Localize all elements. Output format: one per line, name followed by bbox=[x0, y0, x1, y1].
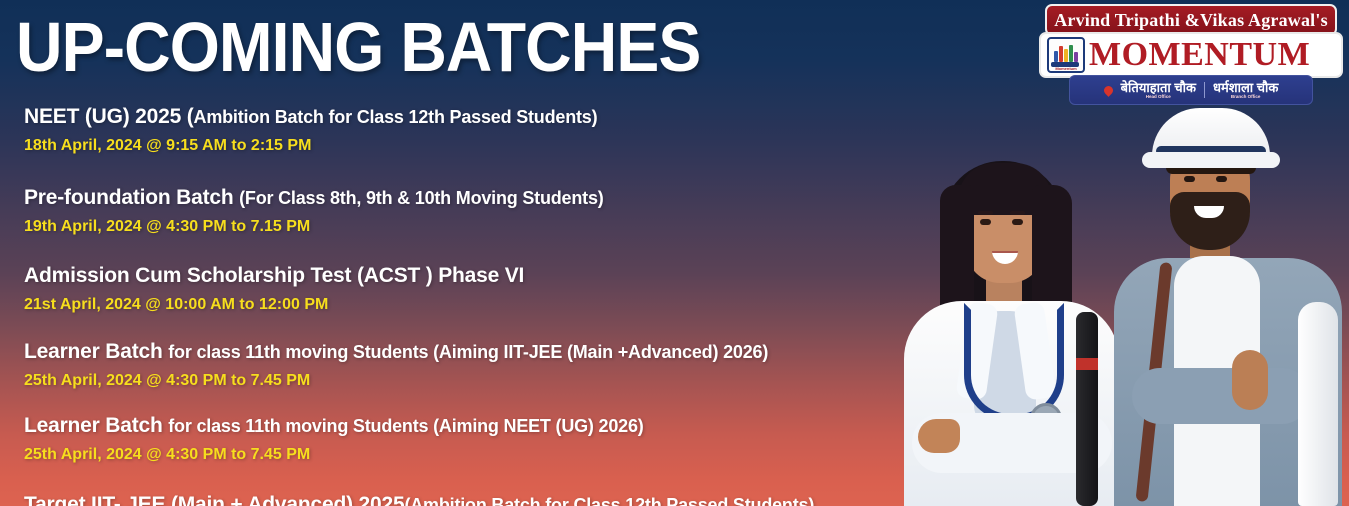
engineer-hand bbox=[1232, 350, 1268, 410]
hard-hat-brim bbox=[1142, 152, 1280, 168]
doctor-brow-left bbox=[978, 211, 993, 215]
bag-strap bbox=[1135, 262, 1172, 502]
office-english-label: Branch Office bbox=[1231, 95, 1261, 100]
doctor-brow-right bbox=[1010, 211, 1025, 215]
emblem-bar bbox=[1059, 46, 1063, 62]
female-doctor-figure bbox=[904, 151, 1119, 506]
logo-founders-text: Arvind Tripathi &Vikas Agrawal's bbox=[1054, 10, 1328, 31]
batch-title-main: Target IIT- JEE (Main + Advanced) 2025 bbox=[24, 493, 404, 506]
emblem-word: Momentum bbox=[1049, 66, 1083, 71]
engineer-hair bbox=[1166, 132, 1256, 174]
engineer-shirt bbox=[1174, 256, 1260, 506]
batch-title: Learner Batch for class 11th moving Stud… bbox=[24, 413, 924, 441]
office-hindi-name: धर्मशाला चौक bbox=[1213, 81, 1278, 94]
emblem-bar bbox=[1064, 49, 1068, 62]
doctor-hair-back bbox=[942, 161, 1064, 341]
doctor-lab-coat bbox=[904, 301, 1119, 506]
doctor-face bbox=[966, 179, 1044, 283]
batch-title-sub: (Ambition Batch for Class 12th Passed St… bbox=[404, 495, 814, 506]
batch-title-main: Learner Batch bbox=[24, 414, 168, 437]
batch-date: 25th April, 2024 @ 4:30 PM to 7.45 PM bbox=[24, 443, 924, 467]
batch-title-main: Pre-foundation Batch bbox=[24, 186, 239, 209]
logo-offices-bar: बेतियाहाता चौक Head Office धर्मशाला चौक … bbox=[1069, 75, 1313, 105]
batch-title-main: NEET (UG) 2025 ( bbox=[24, 105, 194, 128]
doctor-lapel-left bbox=[955, 301, 998, 400]
batch-title: Pre-foundation Batch (For Class 8th, 9th… bbox=[24, 185, 924, 213]
page-title: UP-COMING BATCHES bbox=[16, 4, 700, 90]
engineer-eye-right bbox=[1216, 176, 1227, 182]
batch-title-main: Admission Cum Scholarship Test (ACST ) P… bbox=[24, 264, 524, 287]
blueprint-roll bbox=[1298, 302, 1338, 506]
location-pin-icon bbox=[1102, 84, 1115, 97]
engineer-blazer bbox=[1114, 258, 1342, 506]
batch-item: Target IIT- JEE (Main + Advanced) 2025(A… bbox=[24, 492, 924, 506]
office-english-label: Head Office bbox=[1146, 95, 1171, 100]
batch-item: Pre-foundation Batch (For Class 8th, 9th… bbox=[24, 185, 924, 239]
batch-item: Admission Cum Scholarship Test (ACST ) P… bbox=[24, 263, 924, 317]
doctor-neck bbox=[986, 263, 1022, 313]
office-branch: धर्मशाला चौक Branch Office bbox=[1213, 81, 1278, 100]
doctor-smile bbox=[992, 251, 1018, 264]
students-photo bbox=[900, 106, 1349, 506]
momentum-emblem-icon: Momentum bbox=[1047, 37, 1085, 73]
batch-title: Admission Cum Scholarship Test (ACST ) P… bbox=[24, 263, 924, 291]
doctor-eye-left bbox=[980, 219, 991, 225]
batch-date: 19th April, 2024 @ 4:30 PM to 7.15 PM bbox=[24, 215, 924, 239]
survey-pole bbox=[1076, 312, 1098, 506]
batch-list: NEET (UG) 2025 (Ambition Batch for Class… bbox=[24, 104, 924, 506]
emblem-bar bbox=[1054, 51, 1058, 62]
emblem-bar bbox=[1069, 45, 1073, 62]
batch-title: Target IIT- JEE (Main + Advanced) 2025(A… bbox=[24, 492, 924, 506]
batch-item: Learner Batch for class 11th moving Stud… bbox=[24, 413, 924, 467]
batch-title-main: Learner Batch bbox=[24, 340, 168, 363]
batch-item: Learner Batch for class 11th moving Stud… bbox=[24, 339, 924, 393]
engineer-neck bbox=[1190, 218, 1230, 272]
doctor-coat-shadow bbox=[974, 311, 1036, 431]
doctor-hair-top bbox=[958, 163, 1052, 215]
batch-title: Learner Batch for class 11th moving Stud… bbox=[24, 339, 924, 367]
batch-title-sub: for class 11th moving Students (Aiming N… bbox=[168, 416, 643, 436]
momentum-logo[interactable]: Arvind Tripathi &Vikas Agrawal's Momentu… bbox=[1039, 4, 1343, 105]
batch-title-sub: Ambition Batch for Class 12th Passed Stu… bbox=[194, 107, 598, 127]
promo-banner: UP-COMING BATCHES NEET (UG) 2025 (Ambiti… bbox=[0, 0, 1349, 506]
emblem-bar bbox=[1074, 52, 1078, 62]
engineer-eye-left bbox=[1184, 176, 1195, 182]
engineer-face bbox=[1170, 142, 1250, 246]
doctor-eye-right bbox=[1012, 219, 1023, 225]
doctor-hand bbox=[918, 419, 960, 453]
stethoscope-head bbox=[1030, 403, 1062, 435]
doctor-crossed-arms bbox=[912, 413, 1112, 473]
doctor-hair-left bbox=[940, 185, 974, 335]
batch-date: 18th April, 2024 @ 9:15 AM to 2:15 PM bbox=[24, 134, 924, 158]
hard-hat bbox=[1152, 108, 1270, 164]
office-divider bbox=[1204, 82, 1205, 98]
batch-title-sub: for class 11th moving Students (Aiming I… bbox=[168, 342, 768, 362]
batch-date: 25th April, 2024 @ 4:30 PM to 7.45 PM bbox=[24, 369, 924, 393]
batch-title-sub: (For Class 8th, 9th & 10th Moving Studen… bbox=[239, 188, 603, 208]
batch-date: 21st April, 2024 @ 10:00 AM to 12:00 PM bbox=[24, 293, 924, 317]
office-head: बेतियाहाता चौक Head Office bbox=[1121, 81, 1196, 100]
office-hindi-name: बेतियाहाता चौक bbox=[1121, 81, 1196, 94]
engineer-smile bbox=[1194, 206, 1224, 218]
batch-item: NEET (UG) 2025 (Ambition Batch for Class… bbox=[24, 104, 924, 158]
logo-name-bar: Momentum MOMENTUM bbox=[1039, 32, 1343, 78]
logo-brand-name: MOMENTUM bbox=[1089, 38, 1310, 72]
stethoscope-tube bbox=[964, 303, 1064, 421]
engineer-crossed-arms bbox=[1132, 368, 1310, 424]
hard-hat-band bbox=[1156, 146, 1266, 156]
male-engineer-figure bbox=[1112, 106, 1344, 506]
survey-pole-marker bbox=[1076, 358, 1098, 370]
batch-title: NEET (UG) 2025 (Ambition Batch for Class… bbox=[24, 104, 924, 132]
engineer-beard bbox=[1170, 192, 1250, 250]
doctor-lapel-right bbox=[1013, 301, 1056, 400]
doctor-hair-right bbox=[1032, 185, 1072, 343]
